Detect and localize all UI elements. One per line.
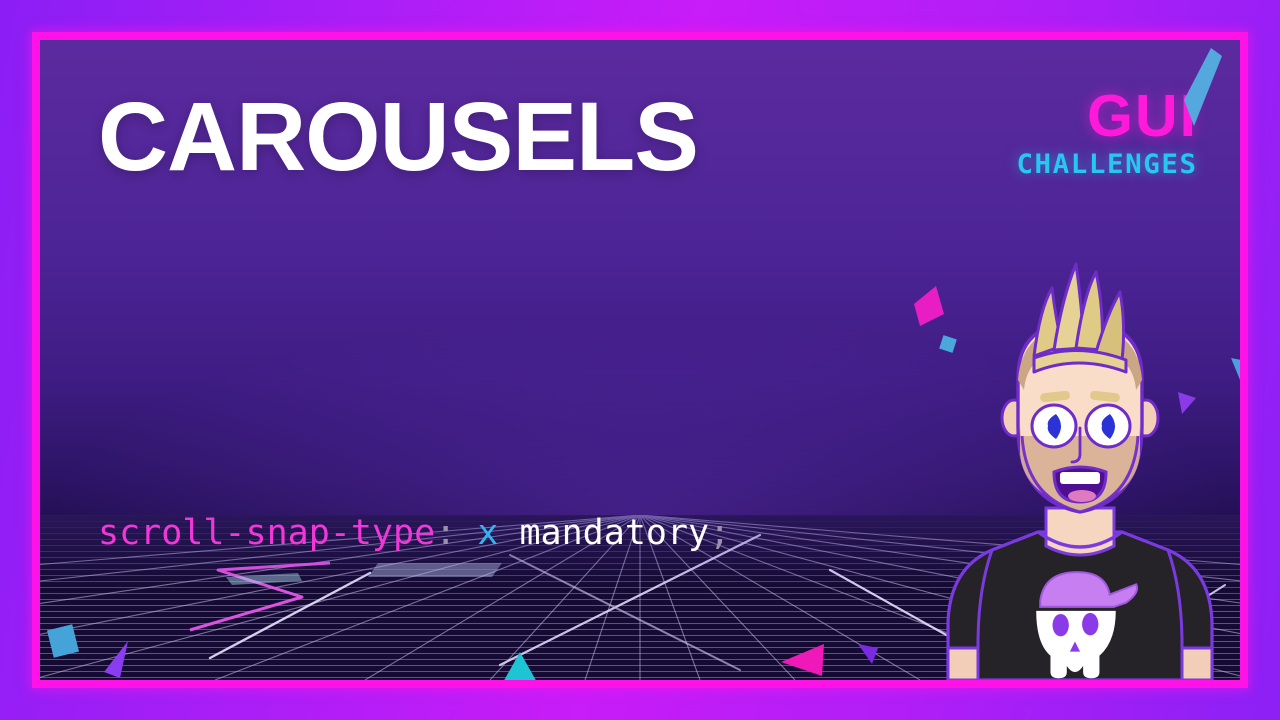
css-semicolon: ; bbox=[709, 513, 730, 553]
cyan-triangle-bottom-icon bbox=[498, 650, 544, 680]
css-value: mandatory bbox=[519, 513, 709, 553]
magenta-triangle-bottom-icon bbox=[778, 640, 828, 680]
blue-shard-top-right-icon bbox=[1178, 42, 1230, 132]
css-keyword: x bbox=[477, 513, 498, 553]
purple-triangle-bottom-icon bbox=[856, 642, 882, 668]
code-line: scroll-snap-type: x mandatory; bbox=[98, 505, 730, 562]
page-title: CAROUSELS bbox=[98, 88, 698, 185]
logo-secondary-text: CHALLENGES bbox=[1017, 151, 1198, 178]
css-code-snippet: scroll-snap-type: x mandatory; scroll-sn… bbox=[98, 392, 730, 680]
content-panel: CAROUSELS GUI CHALLENGES scroll-snap-typ… bbox=[40, 40, 1240, 680]
code-line: scroll-snap-align: center; bbox=[98, 675, 730, 680]
css-property: scroll-snap-type bbox=[98, 513, 435, 553]
presenter-avatar bbox=[930, 250, 1230, 680]
avatar-head bbox=[1002, 264, 1158, 512]
logo-primary-text: GUI bbox=[1020, 87, 1198, 146]
avatar-mohawk-hair bbox=[1034, 264, 1126, 372]
gui-challenges-logo: GUI CHALLENGES bbox=[1020, 87, 1198, 178]
purple-shard-bottom-left-icon bbox=[102, 638, 134, 680]
video-thumbnail: CAROUSELS GUI CHALLENGES scroll-snap-typ… bbox=[0, 0, 1280, 720]
blue-square-bottom-left-icon bbox=[46, 622, 84, 662]
css-colon: : bbox=[435, 513, 456, 553]
